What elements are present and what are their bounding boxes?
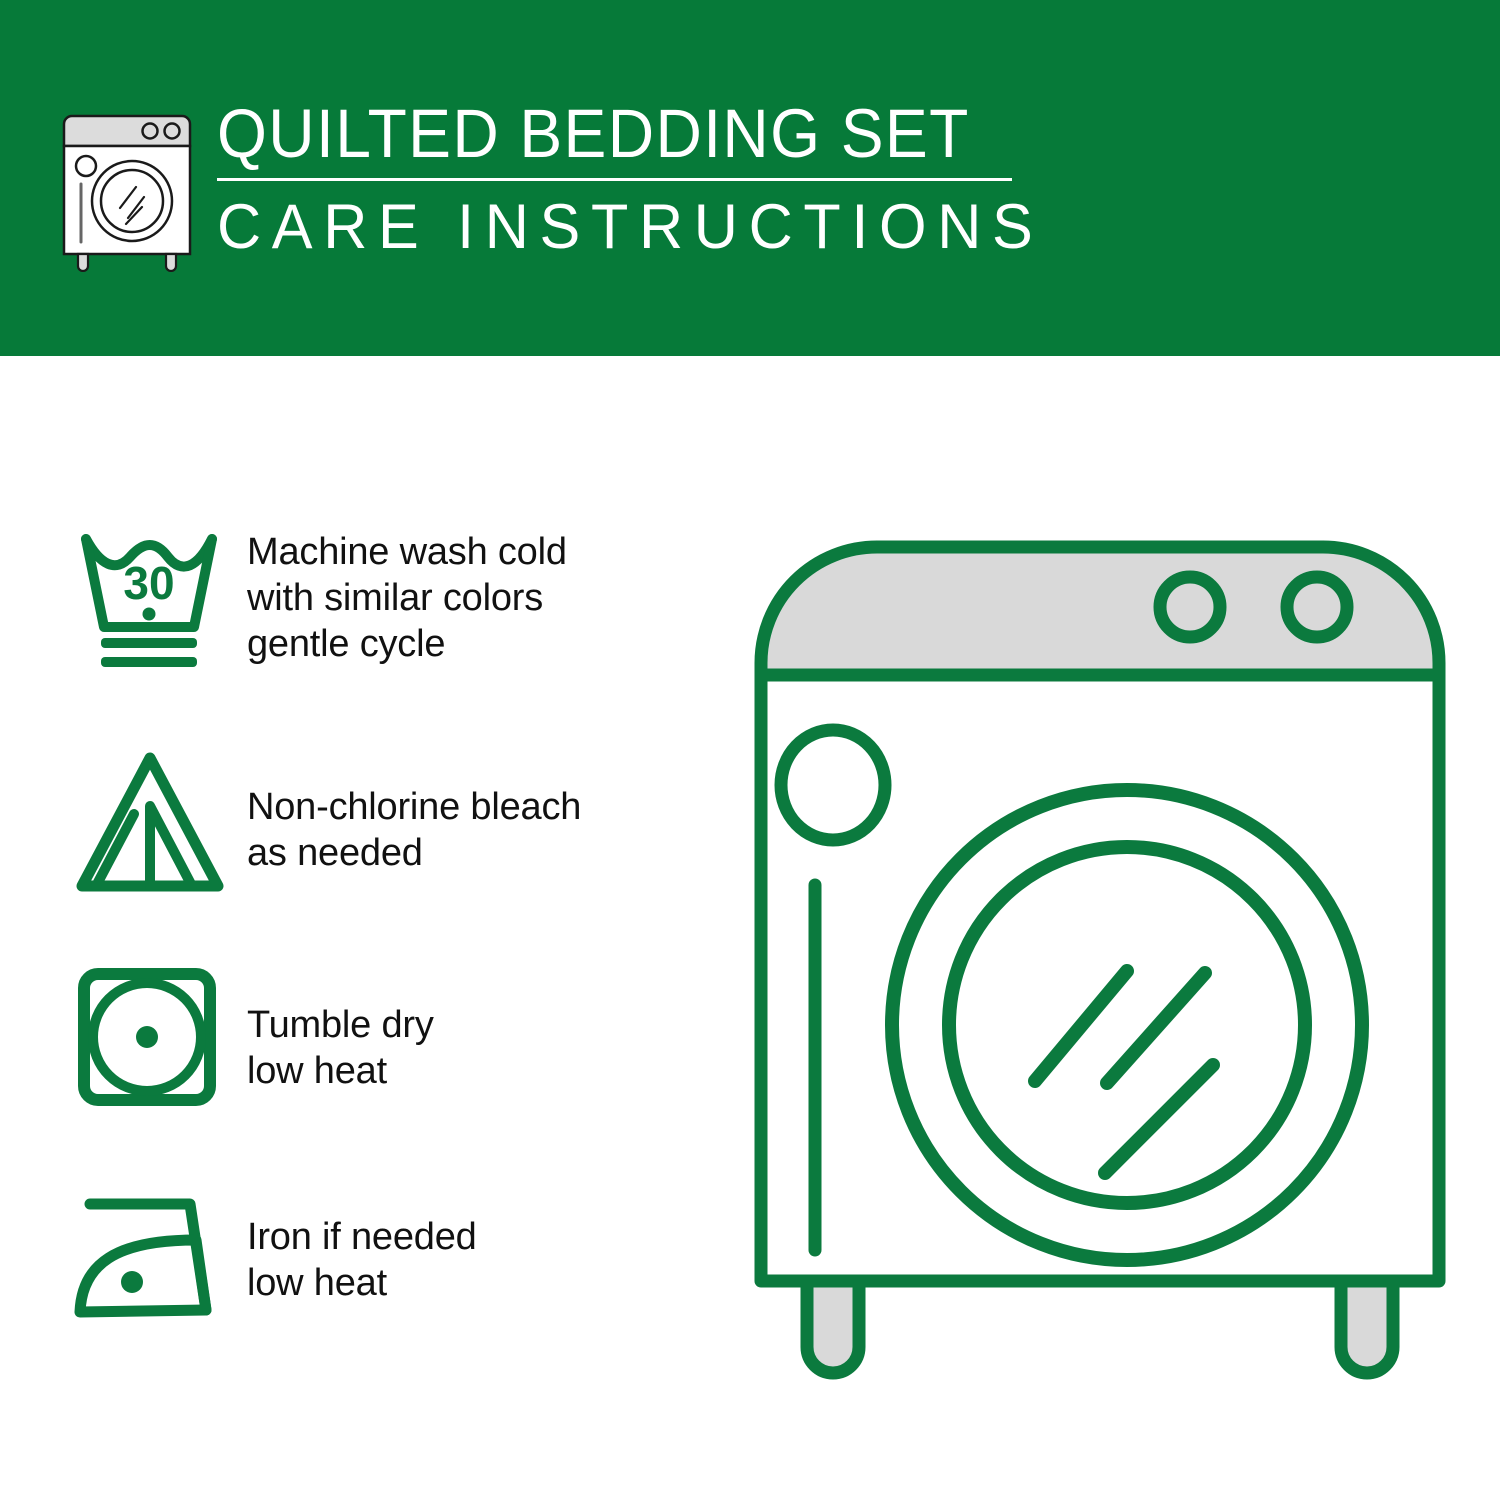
control-panel-fill <box>761 547 1439 675</box>
drum-streak-2 <box>1107 973 1205 1083</box>
care-text: Machine wash cold with similar colors ge… <box>247 505 712 667</box>
wash-tub-30-gentle-icon: 30 <box>72 505 247 676</box>
wash-temperature-label: 30 <box>123 557 174 609</box>
care-row: Iron if needed low heat <box>72 1180 712 1360</box>
care-instruction-list: 30 Machine wash cold with similar colors… <box>72 505 712 1360</box>
washing-machine-icon <box>62 104 192 272</box>
header-title-block: QUILTED BEDDING SET CARE INSTRUCTIONS <box>217 96 1077 262</box>
care-text: Non-chlorine bleach as needed <box>247 730 712 876</box>
care-text: Tumble dry low heat <box>247 960 712 1094</box>
care-instructions-page: QUILTED BEDDING SET CARE INSTRUCTIONS 30 <box>0 0 1500 1500</box>
page-title: QUILTED BEDDING SET <box>217 96 1017 172</box>
page-subtitle: CARE INSTRUCTIONS <box>217 192 1051 262</box>
care-text: Iron if needed low heat <box>247 1180 712 1306</box>
iron-low-heat-icon <box>72 1180 247 1330</box>
care-row: 30 Machine wash cold with similar colors… <box>72 505 712 730</box>
drum-outer-ring <box>892 790 1362 1260</box>
indicator-dial <box>781 730 885 840</box>
leg-left <box>807 1281 859 1373</box>
header-band: QUILTED BEDDING SET CARE INSTRUCTIONS <box>0 0 1500 356</box>
leg-right <box>1341 1281 1393 1373</box>
care-row: Non-chlorine bleach as needed <box>72 730 712 960</box>
drum-streak-1 <box>1035 971 1127 1081</box>
tumble-dry-low-heat-icon <box>72 960 247 1119</box>
washing-machine-illustration <box>735 495 1465 1395</box>
title-divider <box>217 178 1012 181</box>
care-row: Tumble dry low heat <box>72 960 712 1180</box>
drum-streak-3 <box>1105 1065 1213 1173</box>
bleach-triangle-non-chlorine-icon <box>72 730 247 901</box>
header-content: QUILTED BEDDING SET CARE INSTRUCTIONS <box>62 96 1042 276</box>
